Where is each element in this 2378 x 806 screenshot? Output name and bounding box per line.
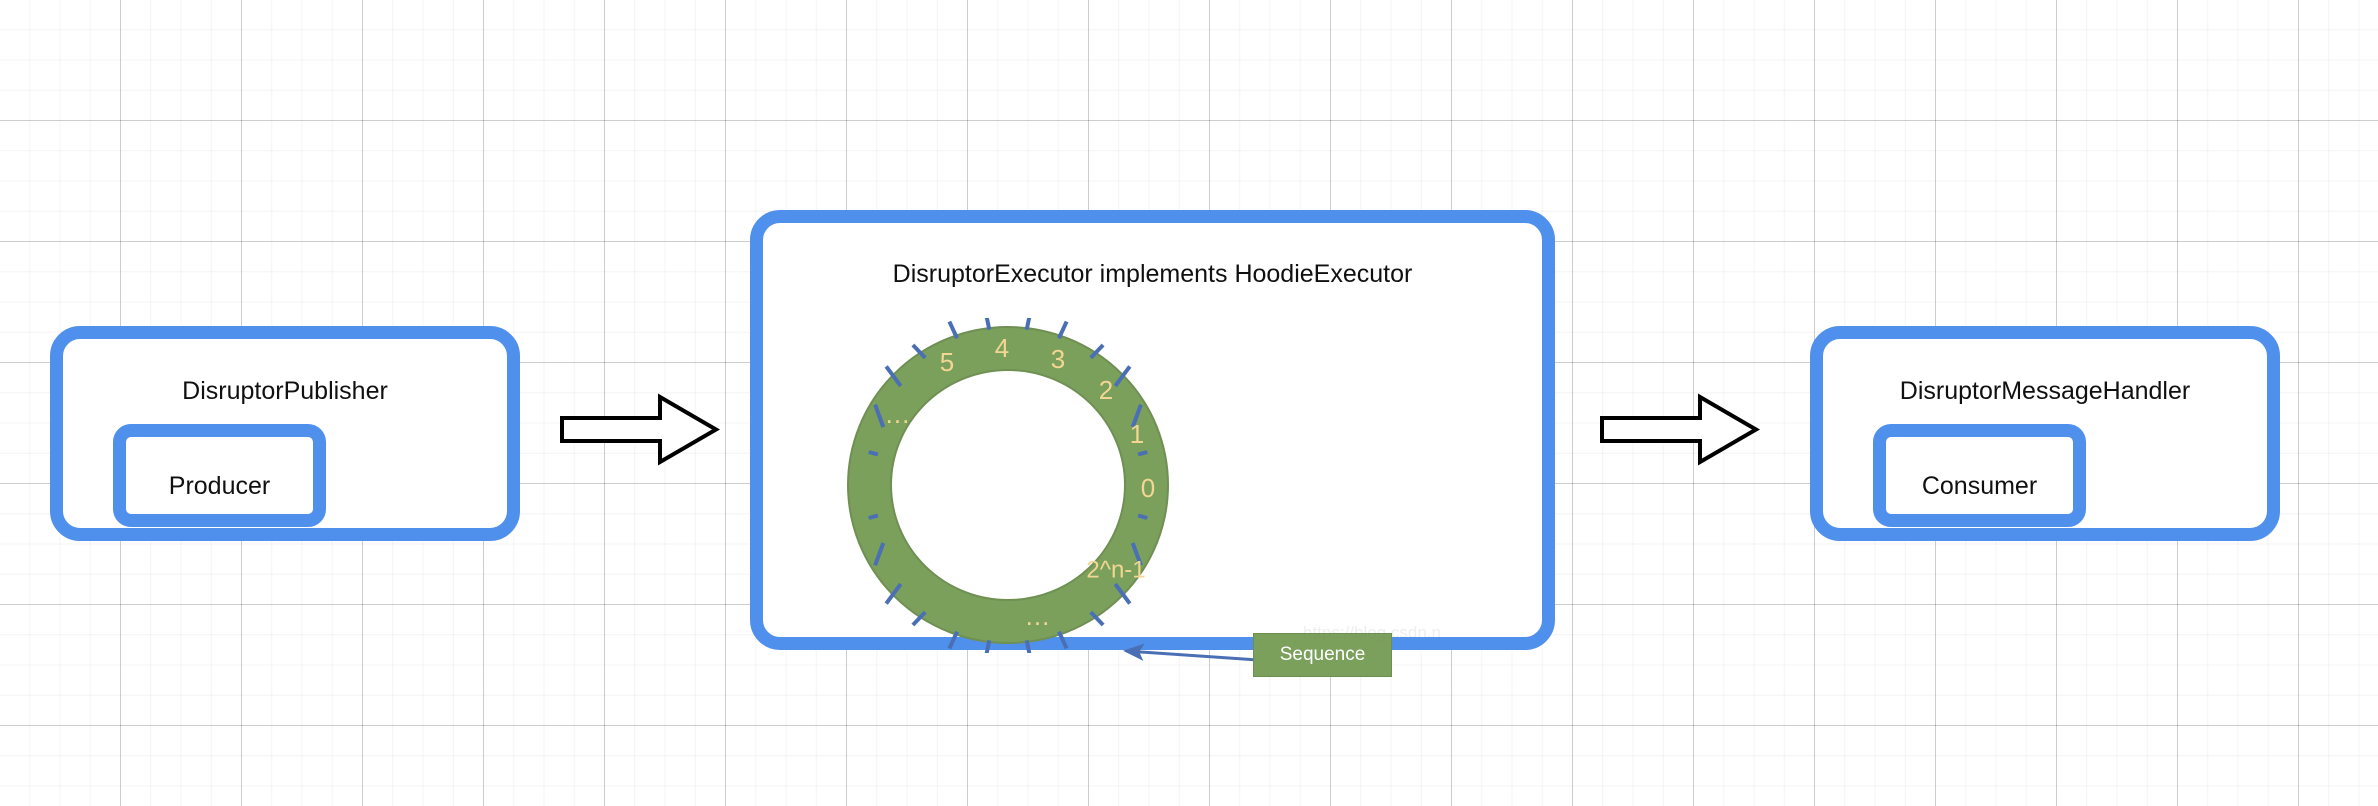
- ring-label-2: 2: [1099, 375, 1113, 405]
- ring-label-dots-bottom: ...: [1026, 601, 1051, 631]
- ring-label-dots-upper-left: ...: [886, 399, 911, 429]
- ring-label-3: 3: [1051, 344, 1065, 374]
- consumer-box[interactable]: Consumer: [1873, 424, 2086, 527]
- sequence-label: Sequence: [1280, 644, 1366, 666]
- ring-label-5: 5: [940, 347, 954, 377]
- diagram-canvas: DisruptorPublisher Producer DisruptorExe…: [0, 0, 2378, 806]
- disruptor-message-handler-title: DisruptorMessageHandler: [1823, 377, 2267, 406]
- disruptor-executor-title: DisruptorExecutor implements HoodieExecu…: [763, 260, 1542, 289]
- watermark-text: https://blog.csdn.n: [1303, 623, 1441, 643]
- ring-label-4: 4: [995, 333, 1009, 363]
- consumer-label: Consumer: [1886, 472, 2073, 501]
- flow-arrow-publisher-to-executor: [560, 392, 720, 467]
- flow-arrow-executor-to-handler: [1600, 392, 1760, 467]
- disruptor-publisher-title: DisruptorPublisher: [63, 377, 507, 406]
- ring-label-2n-minus-1: 2^n-1: [1086, 556, 1145, 583]
- disruptor-message-handler-box[interactable]: DisruptorMessageHandler Consumer: [1810, 326, 2280, 541]
- sequence-pointer-arrow: [1118, 638, 1263, 678]
- ring-buffer-diagram: 0 1 2 3 4 5 ... ... 2^n-1: [838, 318, 1178, 653]
- disruptor-executor-box[interactable]: DisruptorExecutor implements HoodieExecu…: [750, 210, 1555, 650]
- ring-label-1: 1: [1130, 419, 1144, 449]
- producer-label: Producer: [126, 472, 313, 501]
- ring-label-0: 0: [1141, 473, 1155, 503]
- producer-box[interactable]: Producer: [113, 424, 326, 527]
- ring-buffer-svg: 0 1 2 3 4 5 ... ... 2^n-1: [838, 318, 1178, 653]
- disruptor-publisher-box[interactable]: DisruptorPublisher Producer: [50, 326, 520, 541]
